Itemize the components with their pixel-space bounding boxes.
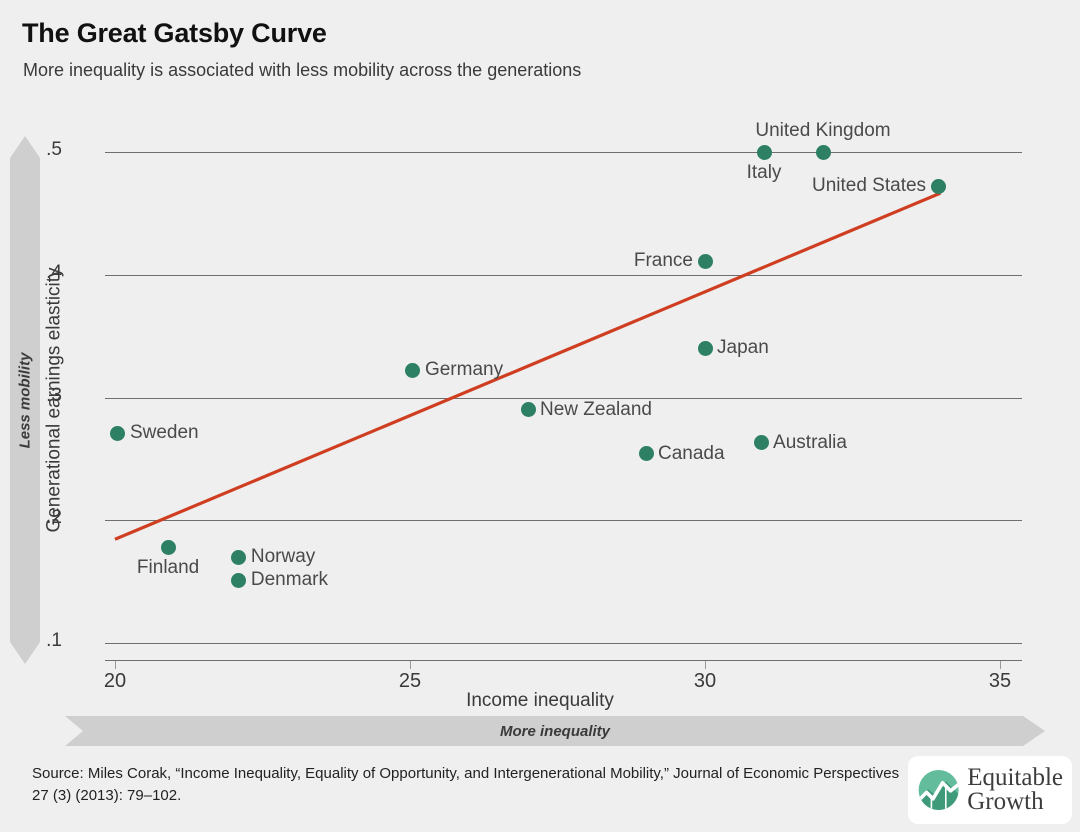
less-mobility-arrow-banner: Less mobility xyxy=(10,136,40,664)
x-direction-label: More inequality xyxy=(500,723,610,740)
data-point[interactable] xyxy=(931,179,946,194)
data-point[interactable] xyxy=(698,254,713,269)
data-point[interactable] xyxy=(110,426,125,441)
logo-line-2: Growth xyxy=(967,790,1063,814)
logo-line-1: Equitable xyxy=(967,766,1063,790)
data-point-label: France xyxy=(634,250,693,272)
data-point[interactable] xyxy=(698,341,713,356)
x-tick-mark xyxy=(1000,661,1001,669)
page-title: The Great Gatsby Curve xyxy=(22,18,327,49)
mountain-chart-circle-icon xyxy=(917,763,960,817)
source-note: Source: Miles Corak, “Income Inequality,… xyxy=(32,763,912,807)
data-point[interactable] xyxy=(754,435,769,450)
data-point-label: Canada xyxy=(658,443,725,465)
x-tick-mark xyxy=(705,661,706,669)
data-point[interactable] xyxy=(231,550,246,565)
y-axis-title-text: Generational earnings elasticity xyxy=(44,267,66,532)
trendline-segment xyxy=(115,193,940,539)
data-point[interactable] xyxy=(231,573,246,588)
data-point-label: Denmark xyxy=(251,569,328,591)
x-direction-label-wrap: More inequality xyxy=(65,716,1045,746)
data-point-label: Japan xyxy=(717,337,769,359)
gridline xyxy=(105,520,1022,521)
gridline xyxy=(105,398,1022,399)
data-point[interactable] xyxy=(161,540,176,555)
data-point-label: Italy xyxy=(747,162,782,184)
y-axis-title: Generational earnings elasticity xyxy=(40,136,70,664)
data-point-label: Finland xyxy=(137,557,199,579)
data-point-label: Germany xyxy=(425,359,503,381)
data-point-label: New Zealand xyxy=(540,399,652,421)
data-point[interactable] xyxy=(405,363,420,378)
gridline xyxy=(105,152,1022,153)
data-point-label: Australia xyxy=(773,432,847,454)
more-inequality-arrow-banner: More inequality xyxy=(65,716,1045,746)
data-point-label: Norway xyxy=(251,546,315,568)
data-point[interactable] xyxy=(816,145,831,160)
x-tick-mark xyxy=(115,661,116,669)
data-point[interactable] xyxy=(521,402,536,417)
data-point-label: Sweden xyxy=(130,422,199,444)
data-point-label: United Kingdom xyxy=(755,120,890,142)
data-point[interactable] xyxy=(639,446,654,461)
data-point-label: United States xyxy=(812,175,926,197)
y-direction-label-wrap: Less mobility xyxy=(10,136,40,664)
x-axis-line xyxy=(105,660,1022,661)
y-direction-label: Less mobility xyxy=(17,352,34,448)
equitable-growth-logo: Equitable Growth xyxy=(908,756,1072,824)
x-axis-title: Income inequality xyxy=(0,690,1080,712)
gridline xyxy=(105,275,1022,276)
gridline xyxy=(105,643,1022,644)
page-subtitle: More inequality is associated with less … xyxy=(23,60,581,81)
x-tick-mark xyxy=(410,661,411,669)
logo-wordmark: Equitable Growth xyxy=(967,766,1063,814)
data-point[interactable] xyxy=(757,145,772,160)
